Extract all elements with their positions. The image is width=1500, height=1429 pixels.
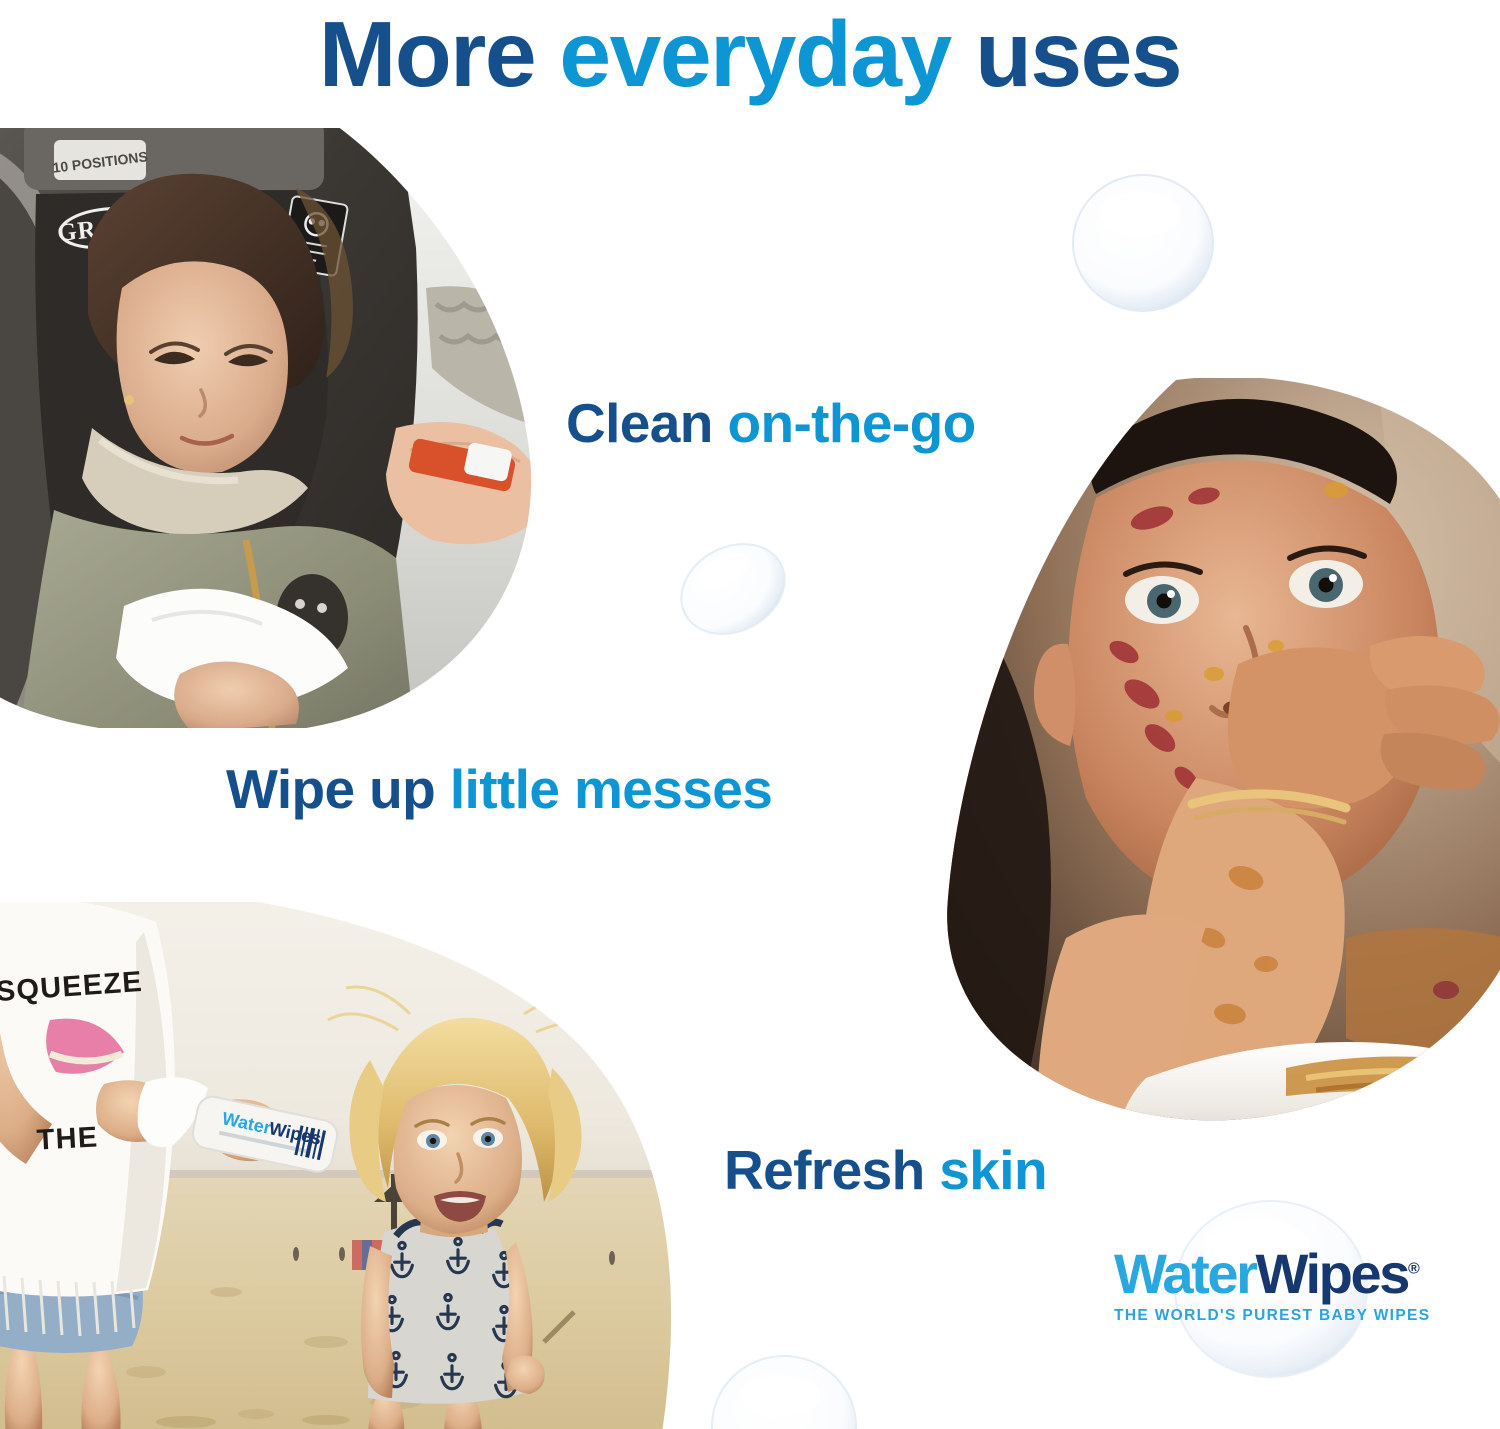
headline-part-2: everyday <box>559 2 950 106</box>
logo-word-water: Water <box>1114 1242 1256 1305</box>
bubble-decoration-middle <box>662 528 804 650</box>
caption-1-dark: Clean <box>566 392 727 454</box>
registered-trademark-icon: ® <box>1408 1260 1420 1277</box>
bubble-decoration-top-right <box>1052 172 1234 314</box>
caption-3-dark: Refresh <box>724 1139 939 1201</box>
headline-part-1: More <box>319 2 560 106</box>
headline-part-3: uses <box>951 2 1181 106</box>
caption-clean-on-the-go: Clean on-the-go <box>566 396 976 451</box>
caption-2-accent: little messes <box>450 758 772 820</box>
logo-wordmark: WaterWipes® <box>1114 1246 1490 1302</box>
caption-wipe-up-little-messes: Wipe up little messes <box>226 762 772 817</box>
svg-text:THE: THE <box>36 1121 99 1156</box>
bubble-decoration-bottom <box>694 1340 874 1429</box>
caption-2-dark: Wipe up <box>226 758 450 820</box>
photo-car-seat: 10 POSITIONS GRACO <box>0 128 544 728</box>
page-title: More everyday uses <box>0 4 1500 104</box>
logo-tagline: THE WORLD'S PUREST BABY WIPES <box>1114 1307 1490 1325</box>
logo-word-wipes: Wipes <box>1256 1242 1408 1305</box>
ad-canvas: More everyday uses <box>0 0 1500 1429</box>
waterwipes-logo: WaterWipes® THE WORLD'S PUREST BABY WIPE… <box>1114 1246 1490 1325</box>
caption-3-accent: skin <box>939 1139 1047 1201</box>
photo-beach: SQUEEZE THE Water Wipes <box>0 902 696 1429</box>
caption-refresh-skin: Refresh skin <box>724 1143 1047 1198</box>
caption-1-accent: on-the-go <box>727 392 975 454</box>
photo-messy-eater <box>946 378 1500 1126</box>
